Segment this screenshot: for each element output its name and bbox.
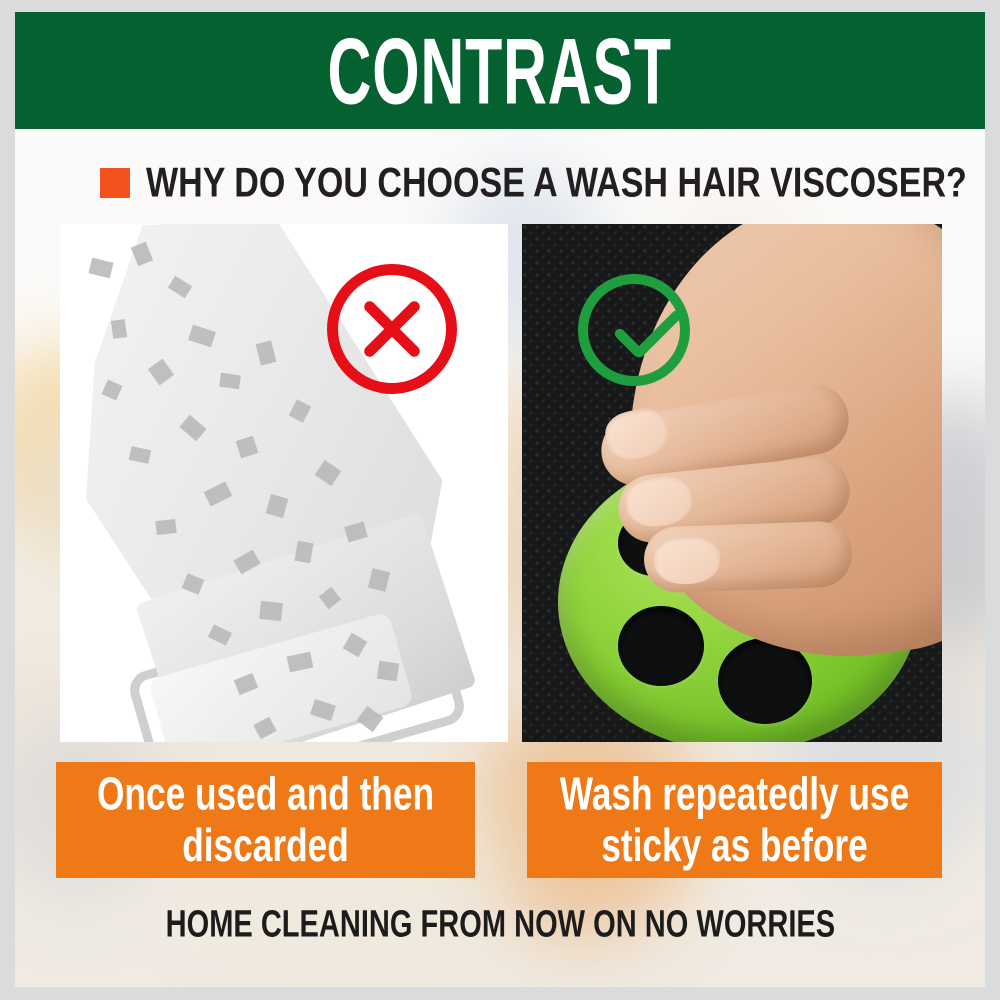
product-info-card: CONTRAST WHY DO YOU CHOOSE A WASH HAIR V… [15, 12, 985, 987]
header-banner: CONTRAST [15, 12, 985, 129]
square-bullet-icon [100, 168, 130, 198]
footer-tagline-text: HOME CLEANING FROM NOW ON NO WORRIES [165, 905, 835, 943]
subtitle-text: WHY DO YOU CHOOSE A WASH HAIR VISCOSER? [146, 162, 967, 203]
x-circle-icon [327, 264, 457, 394]
footer-tagline: HOME CLEANING FROM NOW ON NO WORRIES [15, 907, 985, 940]
page-title: CONTRAST [328, 24, 672, 118]
caption-before: Once used and then discarded [56, 762, 475, 878]
caption-after: Wash repeatedly use sticky as before [527, 762, 942, 878]
caption-after-text: Wash repeatedly use sticky as before [556, 769, 913, 872]
caption-before-text: Once used and then discarded [85, 769, 445, 872]
image-frame: CONTRAST WHY DO YOU CHOOSE A WASH HAIR V… [0, 0, 1000, 1000]
subtitle-row: WHY DO YOU CHOOSE A WASH HAIR VISCOSER? [100, 164, 985, 201]
check-circle-icon [578, 274, 690, 386]
